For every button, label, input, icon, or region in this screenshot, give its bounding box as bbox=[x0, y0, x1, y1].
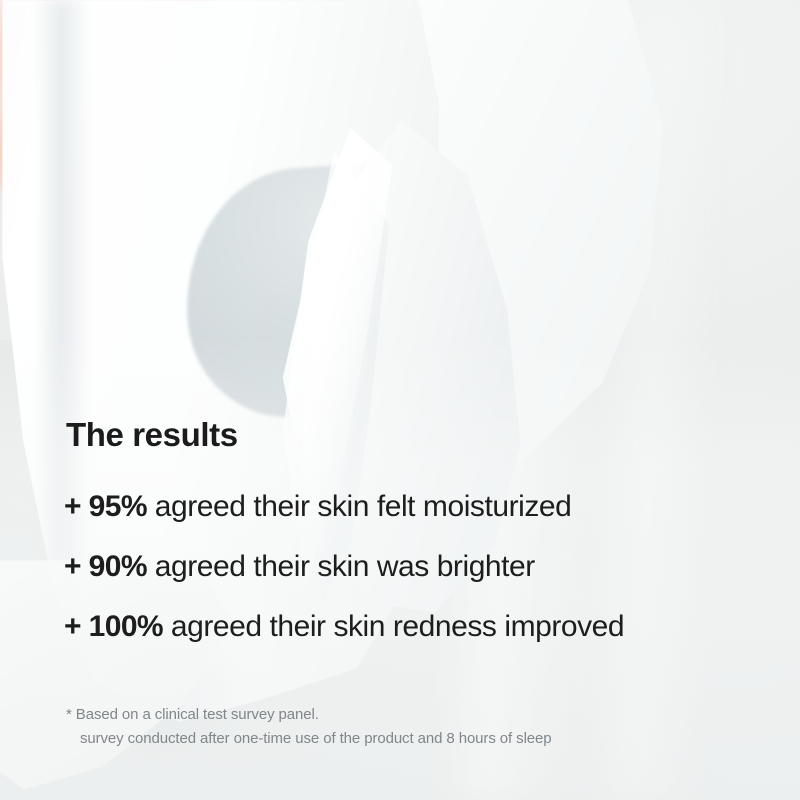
footnote-line: * Based on a clinical test survey panel. bbox=[66, 703, 552, 727]
result-item: + 95% agreed their skin felt moisturized bbox=[64, 492, 764, 522]
result-percent: + 100% bbox=[64, 610, 163, 643]
result-percent: + 95% bbox=[64, 490, 147, 523]
footnote-line: survey conducted after one-time use of t… bbox=[66, 727, 552, 751]
result-item: + 90% agreed their skin was brighter bbox=[64, 552, 764, 582]
footnote-block: * Based on a clinical test survey panel.… bbox=[66, 703, 552, 752]
result-text: agreed their skin redness improved bbox=[163, 610, 624, 643]
results-list: + 95% agreed their skin felt moisturized… bbox=[64, 492, 764, 672]
result-text: agreed their skin was brighter bbox=[147, 550, 535, 583]
result-percent: + 90% bbox=[64, 550, 147, 583]
result-item: + 100% agreed their skin redness improve… bbox=[64, 612, 764, 642]
page-title: The results bbox=[66, 417, 238, 453]
text-content: The results + 95% agreed their skin felt… bbox=[0, 0, 800, 800]
product-claim-image: The results + 95% agreed their skin felt… bbox=[0, 0, 800, 800]
result-text: agreed their skin felt moisturized bbox=[147, 490, 571, 523]
